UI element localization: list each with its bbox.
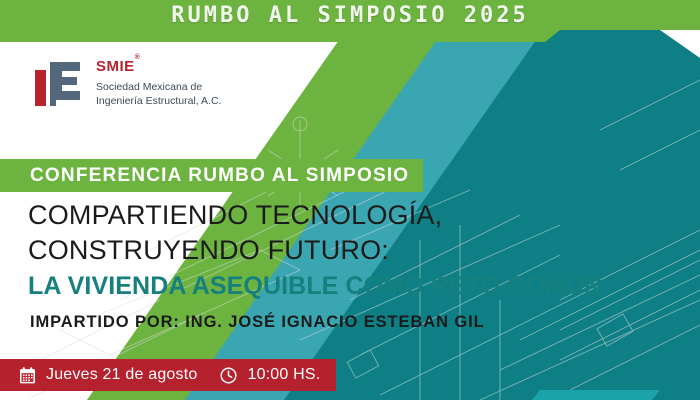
eyebrow-banner-text: CONFERENCIA RUMBO AL SIMPOSIO xyxy=(30,165,409,187)
headline-line-2: CONSTRUYENDO FUTURO: xyxy=(28,233,442,268)
smie-subtitle-line-1: Sociedad Mexicana de xyxy=(96,80,221,94)
smie-brand-label: SMIE xyxy=(96,58,135,75)
conference-poster: RUMBO AL SIMPOSIO 2025 SMIE® Sociedad Me… xyxy=(0,0,700,400)
speaker-credit: IMPARTIDO POR: ING. JOSÉ IGNACIO ESTEBAN… xyxy=(30,313,485,332)
schedule-time: 10:00 HS. xyxy=(247,366,320,384)
eyebrow-banner: CONFERENCIA RUMBO AL SIMPOSIO xyxy=(0,159,423,192)
schedule-date: Jueves 21 de agosto xyxy=(46,366,197,384)
smie-logo: SMIE® Sociedad Mexicana de Ingeniería Es… xyxy=(32,58,221,110)
smie-subtitle: Sociedad Mexicana de Ingeniería Estructu… xyxy=(96,80,221,108)
headline-block: COMPARTIENDO TECNOLOGÍA, CONSTRUYENDO FU… xyxy=(28,198,442,267)
top-banner-title: RUMBO AL SIMPOSIO 2025 xyxy=(0,3,700,28)
schedule-bar: Jueves 21 de agosto 10:00 HS. xyxy=(0,359,336,391)
registered-mark-icon: ® xyxy=(135,54,141,61)
headline-line-1: COMPARTIENDO TECNOLOGÍA, xyxy=(28,198,442,233)
calendar-icon xyxy=(18,366,37,385)
subheadline: LA VIVIENDA ASEQUIBLE COMO RETO COMÚN xyxy=(28,272,602,301)
smie-subtitle-line-2: Ingeniería Estructural, A.C. xyxy=(96,94,221,108)
smie-logo-mark xyxy=(32,58,84,110)
teal-accent-shape xyxy=(532,390,660,400)
smie-logo-text: SMIE® Sociedad Mexicana de Ingeniería Es… xyxy=(96,59,221,108)
clock-icon xyxy=(219,366,238,385)
smie-brand-name: SMIE® xyxy=(96,59,221,75)
